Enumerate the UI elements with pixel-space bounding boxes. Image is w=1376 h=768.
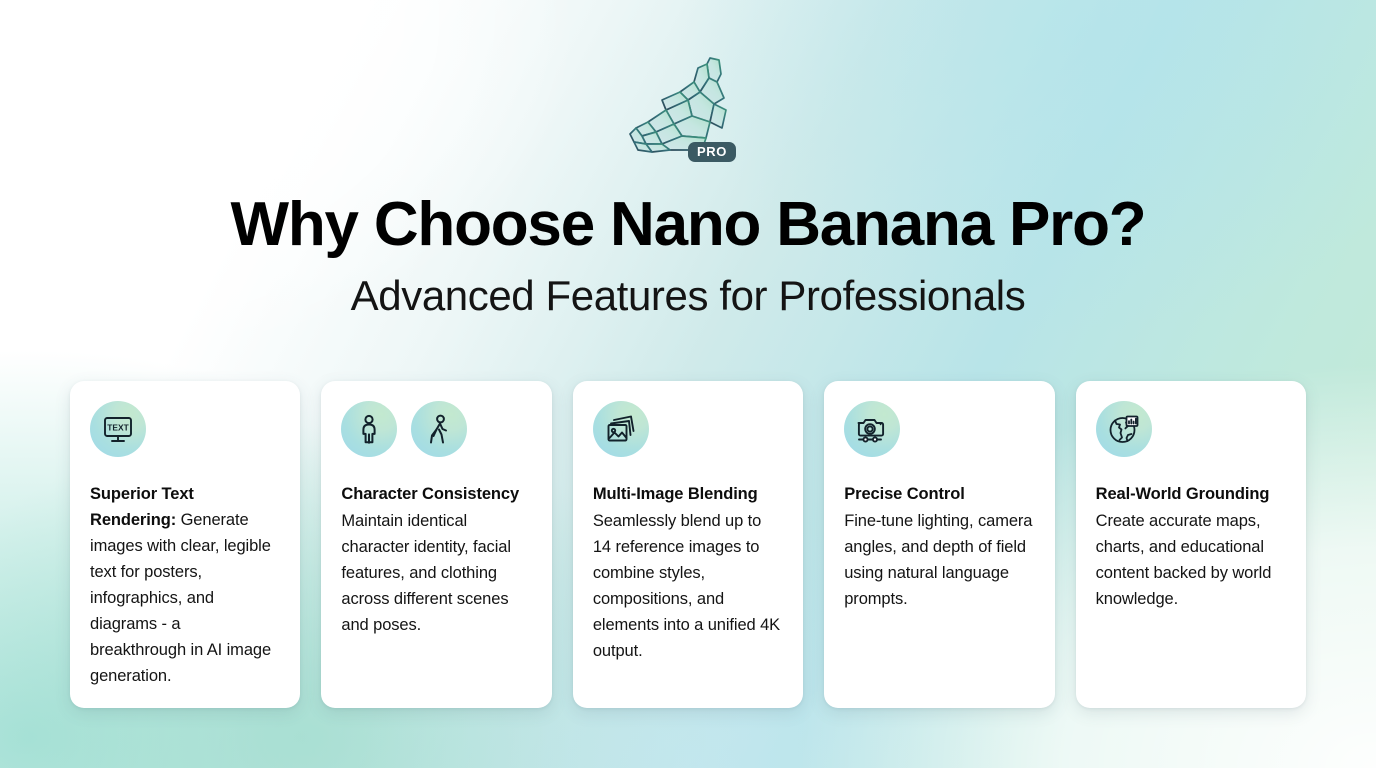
card-title: Precise Control: [844, 481, 1034, 507]
stacked-photos-icon: [593, 401, 649, 457]
card-title: Real-World Grounding: [1096, 481, 1286, 507]
walking-person-icon: [411, 401, 467, 457]
feature-card-real-world-grounding[interactable]: Real-World Grounding Create accurate map…: [1076, 381, 1306, 708]
icon-row: [844, 401, 1034, 457]
feature-card-superior-text-rendering[interactable]: TEXT Superior Text Rendering: Generate i…: [70, 381, 300, 708]
globe-chart-icon: [1096, 401, 1152, 457]
icon-row: [593, 401, 783, 457]
card-body: Generate images with clear, legible text…: [90, 511, 271, 685]
card-body: Create accurate maps, charts, and educat…: [1096, 508, 1286, 612]
icon-row: TEXT: [90, 401, 280, 457]
card-title: Character Consistency: [341, 481, 531, 507]
logo-container: PRO: [0, 52, 1376, 172]
feature-page: PRO Why Choose Nano Banana Pro? Advanced…: [0, 0, 1376, 768]
standing-person-icon: [341, 401, 397, 457]
banana-logo: PRO: [622, 52, 754, 172]
feature-card-precise-control[interactable]: Precise Control Fine-tune lighting, came…: [824, 381, 1054, 708]
pro-badge: PRO: [688, 142, 736, 162]
page-title: Why Choose Nano Banana Pro?: [0, 192, 1376, 257]
card-body: Fine-tune lighting, camera angles, and d…: [844, 508, 1034, 612]
card-body: Seamlessly blend up to 14 reference imag…: [593, 508, 783, 664]
card-title: Multi-Image Blending: [593, 481, 783, 507]
icon-row: [341, 401, 531, 457]
feature-cards-row: TEXT Superior Text Rendering: Generate i…: [70, 381, 1306, 708]
camera-sliders-icon: [844, 401, 900, 457]
page-subtitle: Advanced Features for Professionals: [0, 272, 1376, 320]
card-body: Maintain identical character identity, f…: [341, 508, 531, 638]
icon-row: [1096, 401, 1286, 457]
feature-card-multi-image-blending[interactable]: Multi-Image Blending Seamlessly blend up…: [573, 381, 803, 708]
feature-card-character-consistency[interactable]: Character Consistency Maintain identical…: [321, 381, 551, 708]
text-monitor-icon: TEXT: [90, 401, 146, 457]
svg-text:TEXT: TEXT: [107, 423, 129, 433]
